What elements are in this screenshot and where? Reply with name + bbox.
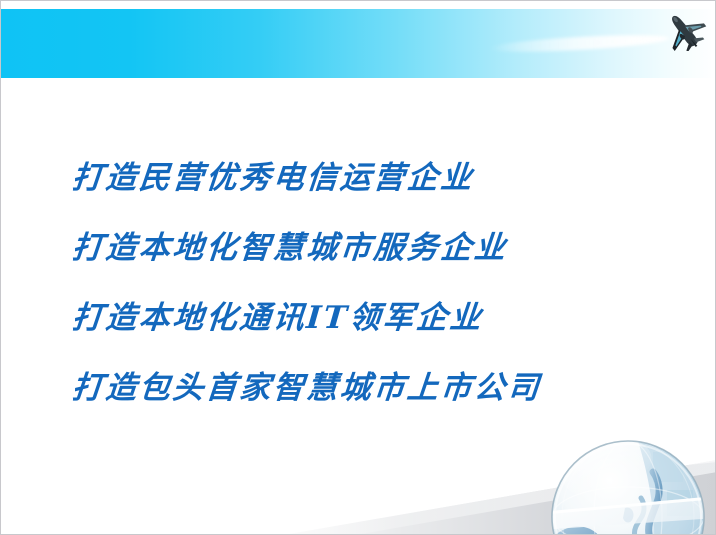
slogan-line-3: 打造本地化通讯IT领军企业 — [69, 283, 675, 353]
slogan-line-4: 打造包头首家智慧城市上市公司 — [69, 353, 675, 423]
slogan-text-block: 打造民营优秀电信运营企业 打造本地化智慧城市服务企业 打造本地化通讯IT领军企业… — [69, 143, 669, 423]
airplane-icon — [661, 9, 709, 51]
globe-graphic — [549, 438, 707, 535]
slogan-line-2: 打造本地化智慧城市服务企业 — [69, 213, 675, 283]
contrail-streak — [489, 32, 669, 55]
bottom-diagonal-band — [1, 438, 716, 534]
presentation-slide: 打造民营优秀电信运营企业 打造本地化智慧城市服务企业 打造本地化通讯IT领军企业… — [0, 0, 716, 535]
header-banner — [1, 9, 716, 78]
slogan-line-1: 打造民营优秀电信运营企业 — [69, 143, 675, 213]
